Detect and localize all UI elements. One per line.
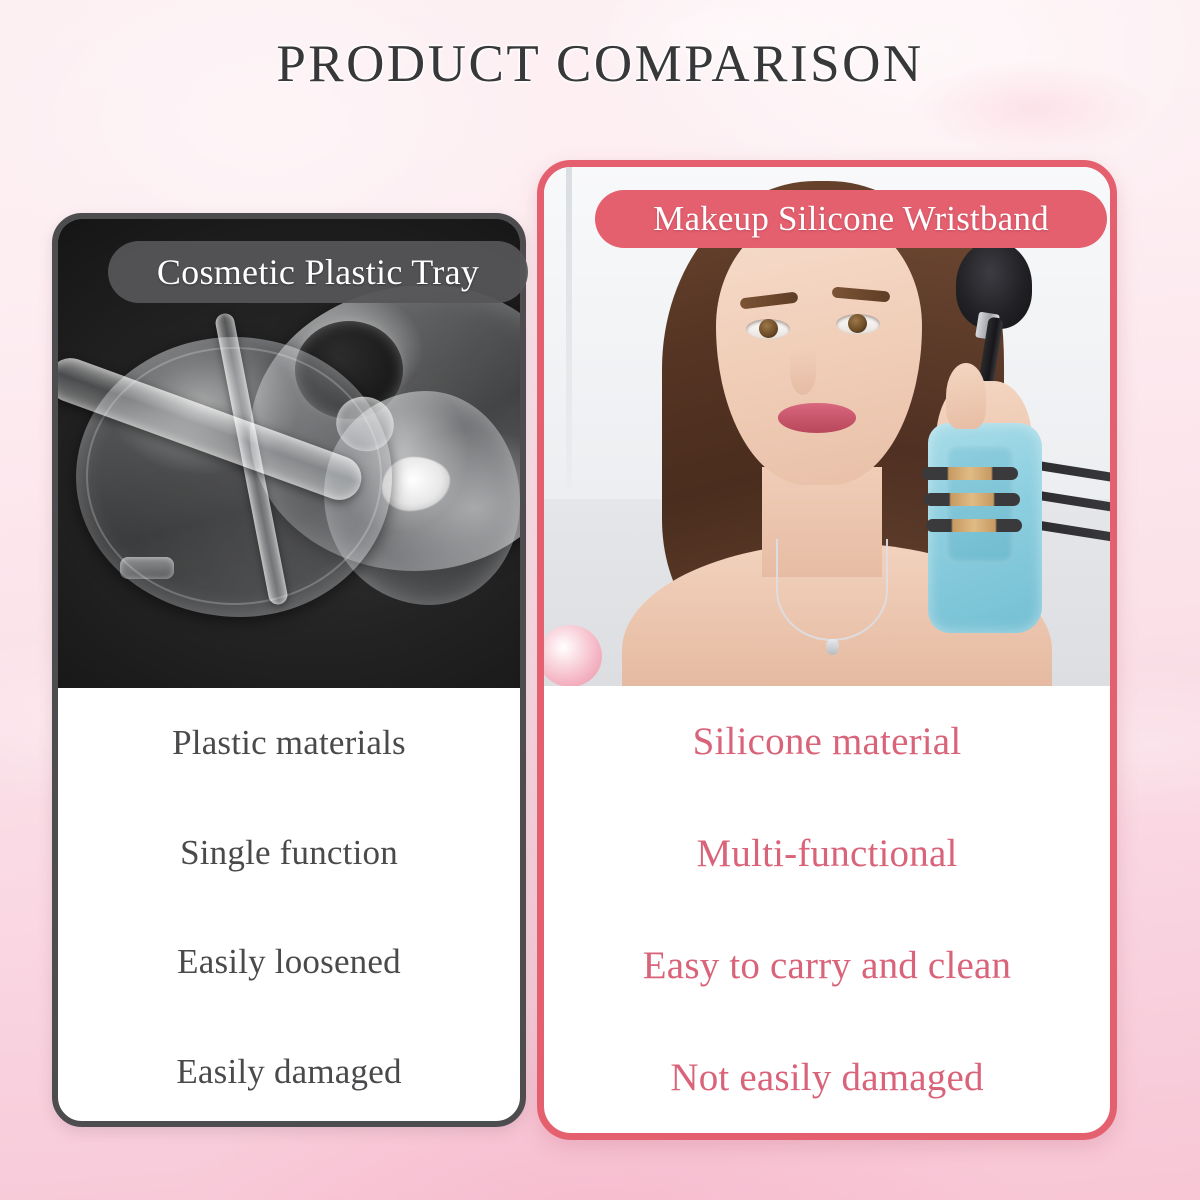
room-wall-edge bbox=[566, 167, 572, 489]
left-card-label-badge: Cosmetic Plastic Tray bbox=[108, 241, 528, 303]
right-feature-item-1: Silicone material bbox=[544, 686, 1110, 798]
model-necklace-pendant bbox=[826, 639, 839, 655]
right-feature-item-4: Not easily damaged bbox=[544, 1021, 1110, 1133]
model-iris-left bbox=[759, 319, 778, 338]
model-lips bbox=[778, 403, 856, 433]
right-feature-item-2: Multi-functional bbox=[544, 798, 1110, 910]
model-iris-right bbox=[848, 314, 867, 333]
model-necklace bbox=[776, 539, 888, 641]
wristband-brush-slot-1 bbox=[922, 467, 1018, 480]
right-feature-list: Silicone material Multi-functional Easy … bbox=[544, 686, 1110, 1133]
right-card-label-badge: Makeup Silicone Wristband bbox=[595, 190, 1107, 248]
left-feature-item-3: Easily loosened bbox=[58, 908, 520, 1018]
page-title: PRODUCT COMPARISON bbox=[0, 34, 1200, 94]
model-nose bbox=[790, 349, 816, 395]
left-feature-item-2: Single function bbox=[58, 798, 520, 908]
foreground-pink-object bbox=[544, 625, 602, 686]
left-feature-list: Plastic materials Single function Easily… bbox=[58, 688, 520, 1127]
right-feature-item-3: Easy to carry and clean bbox=[544, 910, 1110, 1022]
model-thumb bbox=[946, 363, 986, 429]
comparison-infographic: PRODUCT COMPARISON Plastic materials Sin… bbox=[0, 0, 1200, 1200]
wristband-brush-slot-3 bbox=[926, 519, 1022, 532]
product-card-cosmetic-plastic-tray: Plastic materials Single function Easily… bbox=[52, 213, 526, 1127]
oval-tray-tab bbox=[120, 557, 174, 579]
product-card-makeup-silicone-wristband: Silicone material Multi-functional Easy … bbox=[537, 160, 1117, 1140]
model-face bbox=[716, 211, 922, 485]
wristband-brush-slot-2 bbox=[924, 493, 1020, 506]
left-feature-item-4: Easily damaged bbox=[58, 1017, 520, 1127]
left-feature-item-1: Plastic materials bbox=[58, 688, 520, 798]
